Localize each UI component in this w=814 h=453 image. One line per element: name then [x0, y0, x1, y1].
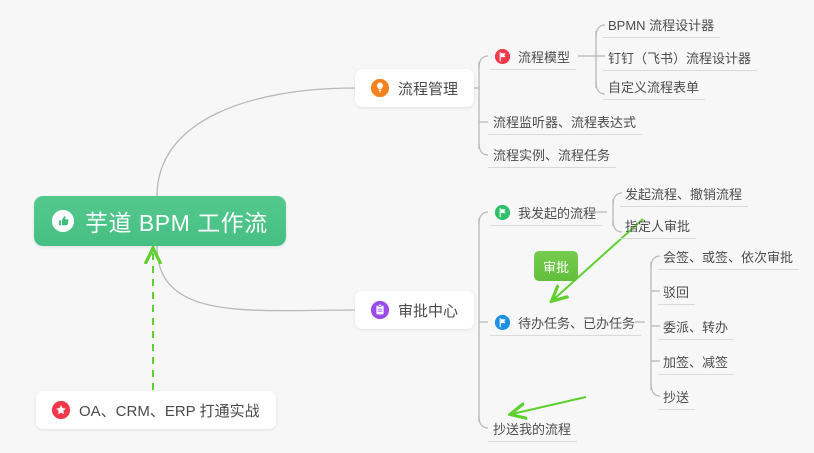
- node-label: 待办任务、已办任务: [518, 313, 635, 332]
- root-node[interactable]: 芋道 BPM 工作流: [34, 196, 286, 246]
- wire-ac-corner-top: [479, 212, 488, 224]
- wire-pm-corner-top: [479, 56, 488, 68]
- flag-green-icon: [495, 205, 510, 220]
- node-label: 抄送: [663, 387, 689, 406]
- thumbs-up-icon: [52, 210, 74, 232]
- node-label: 流程模型: [518, 47, 570, 66]
- wire-root-to-process-management: [157, 88, 355, 196]
- node-label: 加签、减签: [663, 352, 728, 371]
- wire-root-to-approval-center: [157, 246, 355, 311]
- node-label: 会签、或签、依次审批: [663, 247, 793, 266]
- bottom-note-node[interactable]: OA、CRM、ERP 打通实战: [36, 391, 276, 429]
- node-process-listener-expression[interactable]: 流程监听器、流程表达式: [488, 108, 642, 135]
- node-label: 流程监听器、流程表达式: [493, 112, 636, 131]
- lightbulb-icon: [371, 79, 389, 97]
- node-reject[interactable]: 驳回: [658, 278, 695, 305]
- node-assignee-approval[interactable]: 指定人审批: [620, 212, 696, 239]
- bottom-note-label: OA、CRM、ERP 打通实战: [79, 400, 260, 421]
- node-delegate-transfer[interactable]: 委派、转办: [658, 313, 734, 340]
- mindmap-canvas: 芋道 BPM 工作流 流程管理 流程模型 BPMN 流程设计器 钉钉（飞书）流程: [0, 0, 814, 453]
- node-bpmn-designer[interactable]: BPMN 流程设计器: [603, 11, 720, 38]
- arrow-cc-link: [512, 397, 586, 414]
- node-countersign-or-sequential[interactable]: 会签、或签、依次审批: [658, 243, 799, 270]
- branch-label: 流程管理: [398, 78, 458, 99]
- node-process-instance-task[interactable]: 流程实例、流程任务: [488, 141, 616, 168]
- node-process-model[interactable]: 流程模型: [490, 43, 576, 70]
- node-label: 驳回: [663, 282, 689, 301]
- flag-red-icon: [495, 49, 510, 64]
- node-label: 发起流程、撤销流程: [625, 184, 742, 203]
- node-carbon-copy[interactable]: 抄送: [658, 383, 695, 410]
- branch-label: 审批中心: [398, 300, 458, 321]
- node-label: 自定义流程表单: [608, 77, 699, 96]
- node-label: 指定人审批: [625, 216, 690, 235]
- node-label: 我发起的流程: [518, 203, 596, 222]
- node-custom-process-form[interactable]: 自定义流程表单: [603, 73, 705, 100]
- branch-node-process-management[interactable]: 流程管理: [355, 69, 474, 107]
- node-label: 抄送我的流程: [493, 419, 571, 438]
- root-label: 芋道 BPM 工作流: [85, 204, 268, 238]
- node-label: BPMN 流程设计器: [608, 15, 714, 34]
- tag-label: 审批: [543, 257, 569, 276]
- document-icon: [371, 301, 389, 319]
- node-dingtalk-feishu-designer[interactable]: 钉钉（飞书）流程设计器: [603, 44, 757, 71]
- branch-node-approval-center[interactable]: 审批中心: [355, 291, 474, 329]
- tag-approval[interactable]: 审批: [534, 251, 578, 281]
- node-label: 流程实例、流程任务: [493, 145, 610, 164]
- node-start-cancel-process[interactable]: 发起流程、撤销流程: [620, 180, 748, 207]
- node-label: 钉钉（飞书）流程设计器: [608, 48, 751, 67]
- wire-pm-corner-bottom: [479, 143, 488, 155]
- node-todo-done-tasks[interactable]: 待办任务、已办任务: [490, 309, 641, 336]
- flag-blue-icon: [495, 315, 510, 330]
- wire-ac-corner-bottom: [479, 416, 488, 428]
- node-label: 委派、转办: [663, 317, 728, 336]
- node-my-initiated-process[interactable]: 我发起的流程: [490, 199, 602, 226]
- node-add-remove-sign[interactable]: 加签、减签: [658, 348, 734, 375]
- node-cc-my-process[interactable]: 抄送我的流程: [488, 415, 577, 442]
- star-icon: [52, 401, 70, 419]
